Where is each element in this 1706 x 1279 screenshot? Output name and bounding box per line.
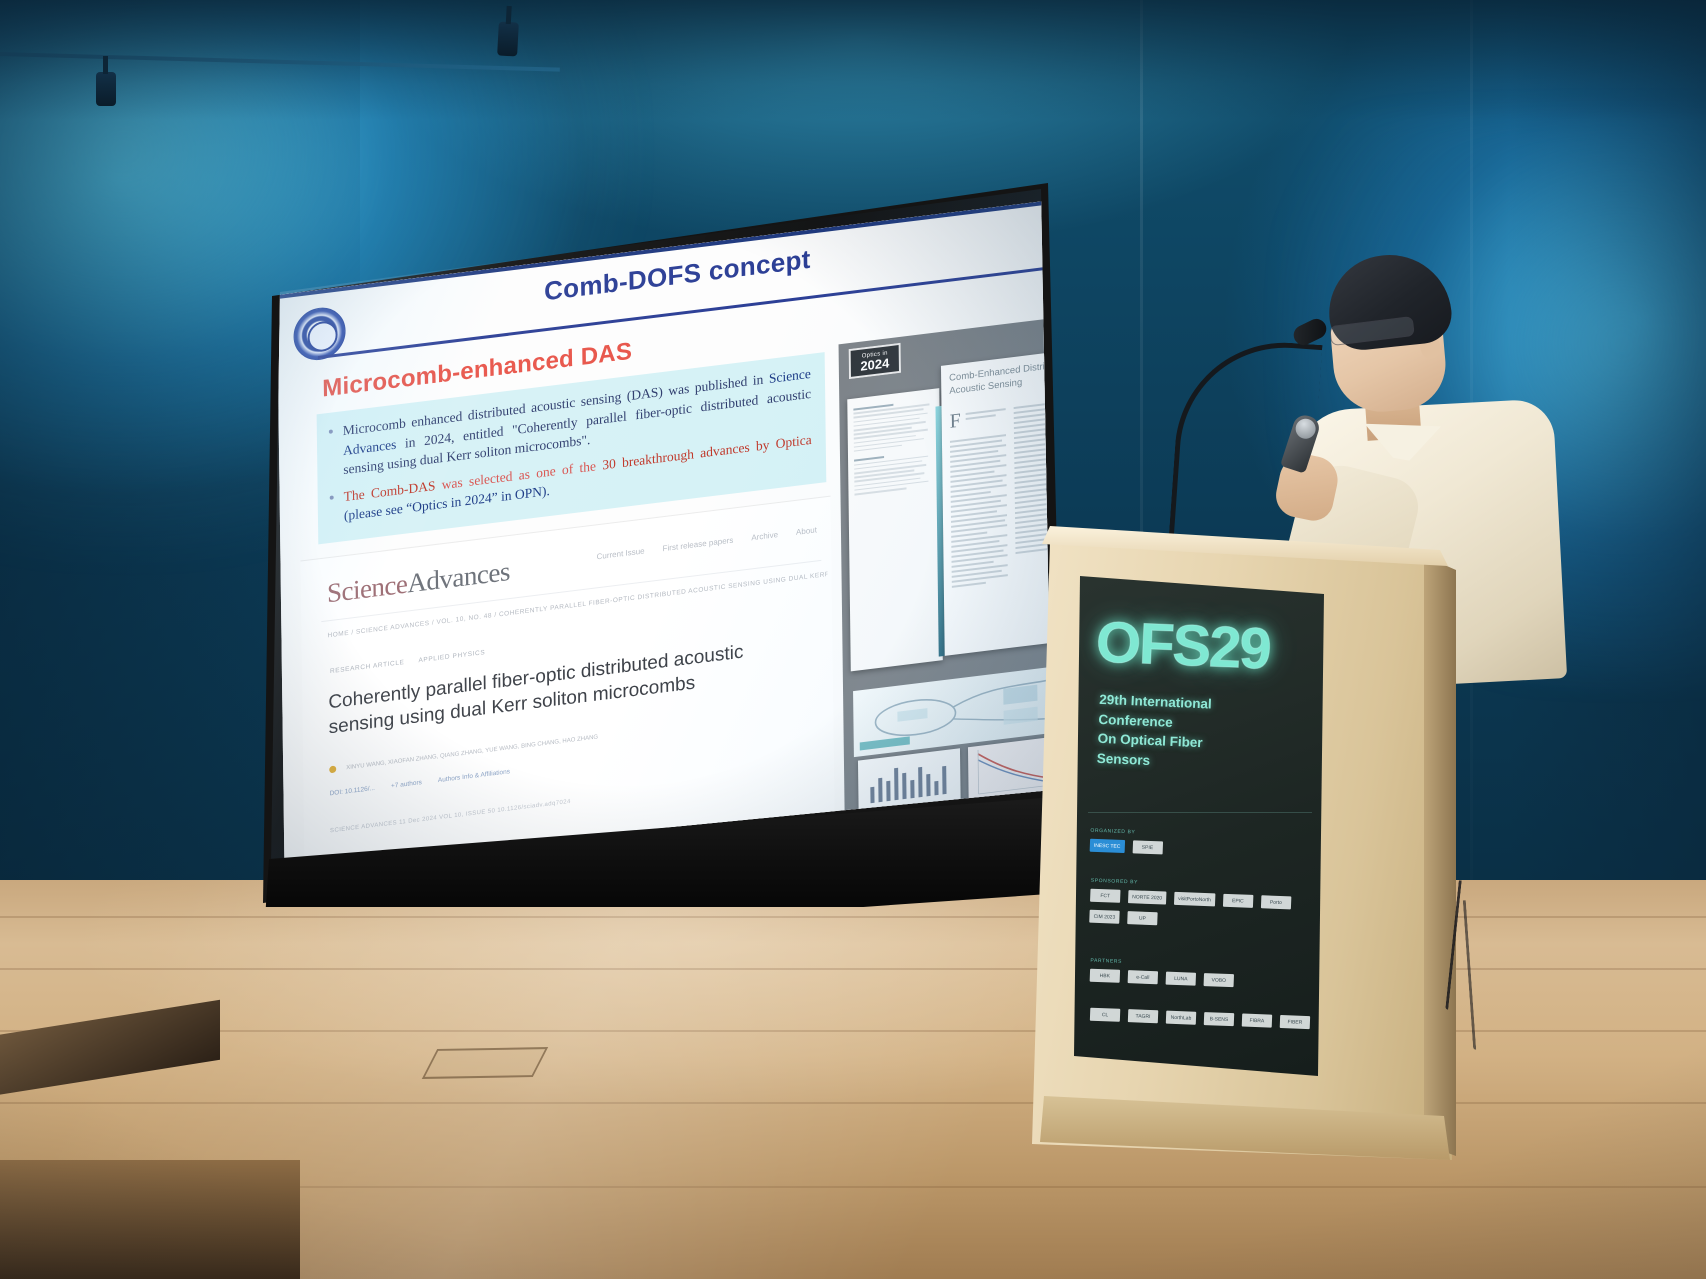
- article-meta: DOI: 10.1126/... +7 authors Authors Info…: [330, 768, 511, 797]
- badge-line-2: 2024: [860, 356, 889, 373]
- magazine-spread: Comb-Enhanced Distributed Acoustic Sensi…: [847, 350, 1063, 677]
- screen-surface: Comb-DOFS concept Microcomb-enhanced DAS…: [263, 183, 1063, 903]
- authors-text: XINYU WANG, XIAOFAN ZHANG, QIANG ZHANG, …: [346, 734, 598, 771]
- floor-tape-marker: [422, 1047, 548, 1079]
- sponsor-logo-inesctec: INESC TEC: [1090, 839, 1125, 853]
- opn-magazine-screenshot: Optics in 2024: [839, 316, 1063, 834]
- conference-hall-scene: Comb-DOFS concept Microcomb-enhanced DAS…: [0, 0, 1706, 1279]
- podium-side-panel: [1424, 556, 1456, 1156]
- nav-about[interactable]: About: [796, 525, 817, 537]
- spotlight-fixture: [497, 21, 519, 56]
- slide-title: Comb-DOFS concept: [277, 211, 1063, 340]
- presentation-slide: Comb-DOFS concept Microcomb-enhanced DAS…: [277, 197, 1063, 903]
- divider: [1088, 812, 1312, 813]
- science-advances-nav[interactable]: Current Issue First release papers Archi…: [597, 525, 817, 561]
- sponsor-group-sponsored-by: SPONSORED BY FCT NORTE 2020 visitPortoNo…: [1089, 878, 1317, 932]
- ofs29-logo: OFS29: [1095, 608, 1271, 682]
- masthead-science: Science: [327, 569, 408, 609]
- tag-research-article: RESEARCH ARTICLE: [330, 659, 405, 675]
- sponsor-group-organized-by: ORGANIZED BY INESC TEC SPIE: [1090, 828, 1317, 861]
- tag-applied-physics: APPLIED PHYSICS: [418, 649, 485, 664]
- article-footer: SCIENCE ADVANCES 11 Dec 2024 VOL 10, ISS…: [330, 799, 571, 834]
- nav-current-issue[interactable]: Current Issue: [597, 546, 645, 561]
- sponsor-logo-visitportonorth: visitPortoNorth: [1174, 892, 1215, 907]
- conference-subtitle: 29th International Conference On Optical…: [1096, 690, 1299, 777]
- sponsor-logo-tagri: TAGRI: [1128, 1009, 1158, 1023]
- sponsor-logo-norte2020: NORTE 2020: [1128, 890, 1166, 904]
- projection-screen: Comb-DOFS concept Microcomb-enhanced DAS…: [263, 183, 1063, 903]
- nav-first-release[interactable]: First release papers: [663, 536, 734, 554]
- sponsor-logo-northlab: NorthLab: [1166, 1011, 1196, 1025]
- lectern-podium: OFS29 29th International Conference On O…: [1032, 520, 1452, 1160]
- sponsor-row: INESC TEC SPIE: [1090, 839, 1316, 861]
- podium-signage-panel: OFS29 29th International Conference On O…: [1074, 564, 1324, 1076]
- sponsor-logo-fct: FCT: [1090, 889, 1120, 903]
- sponsor-logo-fibra: FIBRA: [1242, 1014, 1272, 1028]
- meta-affiliations[interactable]: Authors Info & Affiliations: [438, 768, 510, 784]
- article-tags: RESEARCH ARTICLE APPLIED PHYSICS: [330, 649, 485, 675]
- sponsor-group-partners: PARTNERS HBK e-Call LUNA VOBO: [1090, 958, 1317, 991]
- sponsor-logo-up: UP: [1127, 911, 1157, 925]
- orcid-icon: [329, 766, 336, 774]
- nav-archive[interactable]: Archive: [751, 530, 778, 542]
- magazine-left-page: [847, 388, 943, 671]
- meta-authors-count[interactable]: +7 authors: [391, 779, 422, 790]
- sponsor-logo-porto: Porto: [1261, 895, 1291, 909]
- sponsor-logo-luna: LUNA: [1166, 972, 1196, 986]
- sponsor-logo-ecall: e-Call: [1128, 970, 1158, 984]
- spotlight-fixture: [96, 72, 116, 106]
- sponsor-logo-cim2023: CIM 2023: [1089, 910, 1119, 924]
- sponsor-row: FCT NORTE 2020 visitPortoNorth EPIC Port…: [1089, 889, 1316, 932]
- sponsor-logo-hbk: HBK: [1090, 969, 1120, 983]
- sponsor-logo-bsens: B-SENS: [1204, 1012, 1234, 1026]
- sponsor-row: HBK e-Call LUNA VOBO: [1090, 969, 1316, 991]
- sponsor-logo-epic: EPIC: [1223, 894, 1253, 908]
- sponsor-row: CL TAGRI NorthLab B-SENS FIBRA FIBER: [1090, 1008, 1316, 1030]
- stage-front-face: [0, 1160, 300, 1279]
- sponsor-logo-fiber: FIBER: [1280, 1015, 1310, 1029]
- article-title: Coherently parallel fiber-optic distribu…: [328, 633, 799, 741]
- sponsor-logo-vobo: VOBO: [1204, 973, 1234, 987]
- sponsor-logo-spie: SPIE: [1132, 840, 1162, 854]
- sponsor-group-additional: CL TAGRI NorthLab B-SENS FIBRA FIBER: [1090, 1008, 1316, 1030]
- meta-doi: DOI: 10.1126/...: [330, 785, 375, 798]
- opn-dropcap: F: [950, 410, 961, 434]
- masthead-advances: Advances: [407, 556, 510, 599]
- sponsor-logo-cl: CL: [1090, 1008, 1120, 1022]
